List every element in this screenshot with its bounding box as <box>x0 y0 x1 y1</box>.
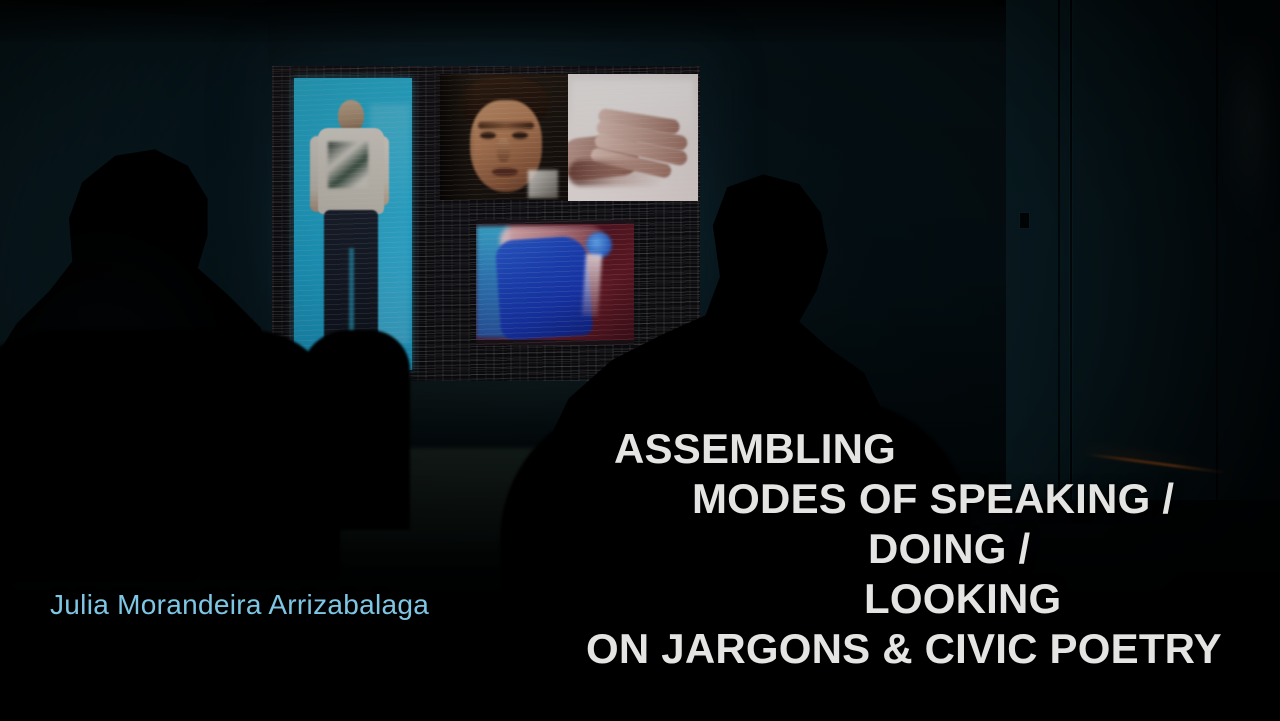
wall-glow <box>1222 40 1280 230</box>
portrait-mouth <box>492 168 518 176</box>
slide-canvas: ASSEMBLING MODES OF SPEAKING / DOING / L… <box>0 0 1280 721</box>
portrait-collar <box>528 170 558 198</box>
projection-tile-portrait <box>440 74 568 200</box>
viewer-silhouette-left-knee <box>300 330 410 530</box>
hand-shadow <box>568 160 664 186</box>
portrait-nose <box>497 138 510 162</box>
portrait-brow <box>478 122 534 129</box>
projection-tile-standing-figure <box>294 78 412 370</box>
portrait-side-shadow <box>440 74 476 200</box>
light-streak <box>582 254 602 317</box>
wall-panel-seam <box>1070 0 1072 500</box>
blue-fabric <box>495 235 594 341</box>
viewer-silhouette-right-body <box>500 400 970 650</box>
figure-leg-gap <box>349 248 354 342</box>
portrait-eye-left <box>480 132 496 139</box>
wall-panel-seam <box>1058 0 1060 500</box>
light-switch-icon <box>1019 212 1030 229</box>
wall-panel-seam <box>1216 0 1218 500</box>
portrait-eye-right <box>512 132 528 139</box>
figure-shirt-print <box>328 142 368 188</box>
projection-tile-blue-fabric <box>476 220 634 345</box>
author-name: Julia Morandeira Arrizabalaga <box>50 589 429 621</box>
viewer-silhouette-left-body <box>0 330 340 580</box>
projection-tile-hands <box>568 74 698 201</box>
